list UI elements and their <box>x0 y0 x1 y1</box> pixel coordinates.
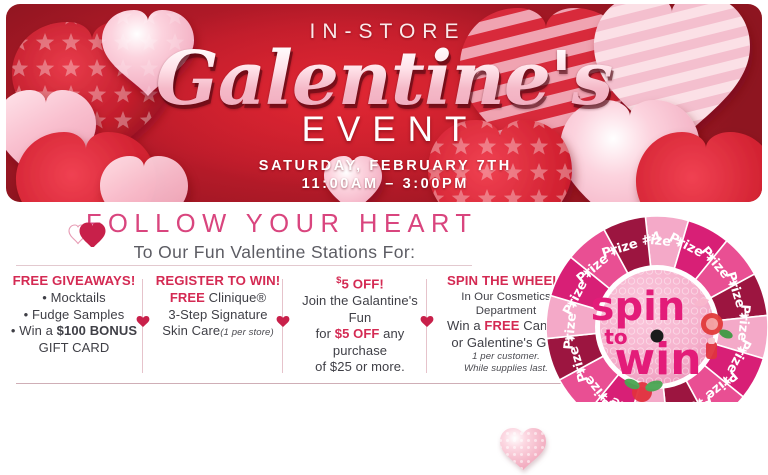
column-1-line-3: • Win a $100 BONUS <box>4 323 144 340</box>
hero-text-block: IN-STORE Galentine's EVENT SATURDAY, FEB… <box>6 4 762 192</box>
column-2-line-1: FREE Clinique® <box>152 290 284 307</box>
column-3-line-1: Join the Galantine's Fun <box>292 293 428 326</box>
hero-banner: IN-STORE Galentine's EVENT SATURDAY, FEB… <box>6 4 762 202</box>
column-3-line-2-prefix: for <box>316 326 335 341</box>
column-4-line-2-prefix: Win a <box>447 318 484 333</box>
column-1-heading: FREE GIVEAWAYS! <box>4 273 144 288</box>
column-2-line-1-text: Clinique® <box>205 290 266 305</box>
offer-column-free-giveaways: FREE GIVEAWAYS! • Mocktails • Fudge Samp… <box>0 273 148 381</box>
hero-time-line: 11:00AM – 3:00PM <box>6 176 762 192</box>
candy-heart-icon <box>497 423 563 475</box>
spin-wheel-svg: Prize #1Prize #2Prize #3Prize #4Prize #1… <box>546 216 768 402</box>
column-2-line-3: Skin Care(1 per store) <box>152 323 284 340</box>
hero-script-title: Galentine's <box>6 40 762 118</box>
divider-top <box>16 265 472 266</box>
column-3-line-2: for $5 OFF any purchase <box>292 326 428 359</box>
offer-column-register-to-win: REGISTER TO WIN! FREE Clinique® 3-Step S… <box>148 273 288 381</box>
column-2-line-3-text: Skin Care <box>162 323 220 338</box>
follow-your-heart-block: FOLLOW YOUR HEART To Our Fun Valentine S… <box>0 210 505 263</box>
column-1-line-4: GIFT CARD <box>4 340 144 357</box>
column-3-line-3: of $25 or more. <box>292 359 428 376</box>
spin-wheel: Prize #1Prize #2Prize #3Prize #4Prize #1… <box>546 216 768 402</box>
column-2-heading: REGISTER TO WIN! <box>152 273 284 288</box>
column-3-line-2-bold: $5 OFF <box>335 326 380 341</box>
column-1-line-1: • Mocktails <box>4 290 144 307</box>
column-4-line-2-bold: FREE <box>484 318 519 333</box>
column-2-line-3-note: (1 per store) <box>220 327 274 338</box>
column-3-heading: $5 OFF! <box>292 273 428 291</box>
wheel-center-spin: spin <box>591 284 686 330</box>
column-1-line-3-bold: $100 BONUS <box>57 323 137 338</box>
wheel-hub-dot <box>651 330 664 343</box>
column-1-line-2: • Fudge Samples <box>4 307 144 324</box>
hero-date-line: SATURDAY, FEBRUARY 7TH <box>6 158 762 174</box>
column-2-line-1-bold: FREE <box>170 290 205 305</box>
column-3-heading-main: 5 OFF! <box>342 276 384 291</box>
double-heart-icon <box>68 221 114 247</box>
offer-columns: FREE GIVEAWAYS! • Mocktails • Fudge Samp… <box>0 273 580 381</box>
column-2-line-2: 3-Step Signature <box>152 307 284 324</box>
spin-wheel-graphic: Prize #1Prize #2Prize #3Prize #4Prize #1… <box>546 216 768 402</box>
offer-column-five-dollars-off: $5 OFF! Join the Galantine's Fun for $5 … <box>288 273 432 381</box>
column-1-line-3-prefix: • Win a <box>11 323 57 338</box>
